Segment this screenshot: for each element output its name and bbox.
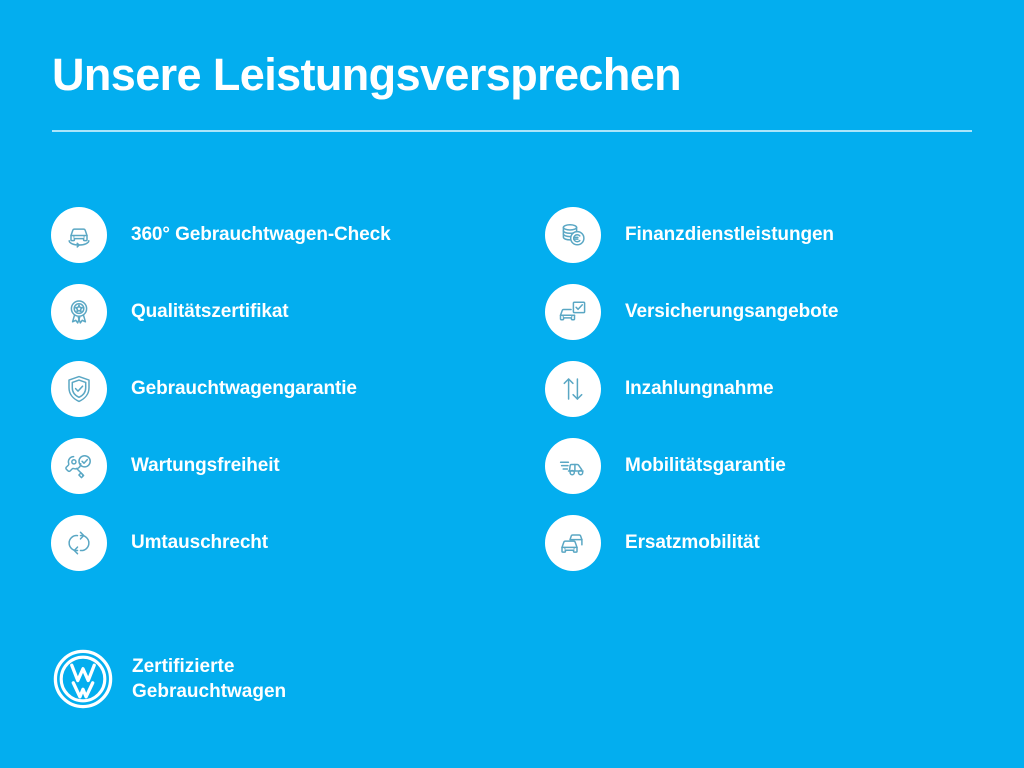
benefit-label: Qualitätszertifikat [131,301,289,323]
benefits-grid: 360° Gebrauchtwagen-Check Qualitätszerti… [0,196,1024,581]
shield-check-icon [51,361,107,417]
benefit-item-quality-certificate[interactable]: Qualitätszertifikat [51,273,524,350]
benefit-item-exchange-right[interactable]: Umtauschrecht [51,504,524,581]
two-cars-icon [545,515,601,571]
award-rosette-icon [51,284,107,340]
benefit-item-360-check[interactable]: 360° Gebrauchtwagen-Check [51,196,524,273]
benefit-label: Gebrauchtwagengarantie [131,378,357,400]
benefit-label: Ersatzmobilität [625,532,760,554]
benefit-item-maintenance-free[interactable]: Wartungsfreiheit [51,427,524,504]
footer-line-2: Gebrauchtwagen [132,679,286,704]
benefit-label: Umtauschrecht [131,532,268,554]
benefit-label: Versicherungsangebote [625,301,838,323]
slide-root: Unsere Leistungsversprechen [0,0,1024,768]
car-360-check-icon [51,207,107,263]
up-down-arrows-icon [545,361,601,417]
wrench-check-icon [51,438,107,494]
benefit-label: Wartungsfreiheit [131,455,280,477]
header-divider [52,130,972,132]
benefit-item-trade-in[interactable]: Inzahlungnahme [545,350,1024,427]
benefit-item-financial-services[interactable]: Finanzdienstleistungen [545,196,1024,273]
benefits-left-column: 360° Gebrauchtwagen-Check Qualitätszerti… [0,196,524,581]
benefit-label: Mobilitätsgarantie [625,455,786,477]
benefit-item-mobility-guarantee[interactable]: Mobilitätsgarantie [545,427,1024,504]
benefit-label: Finanzdienstleistungen [625,224,834,246]
benefits-right-column: Finanzdienstleistungen Versicheru [524,196,1024,581]
benefit-label: Inzahlungnahme [625,378,774,400]
header: Unsere Leistungsversprechen [52,48,972,132]
footer-text: Zertifizierte Gebrauchtwagen [132,654,286,704]
footer-line-1: Zertifizierte [132,654,286,679]
car-motion-icon [545,438,601,494]
exchange-arrows-icon [51,515,107,571]
benefit-item-insurance-offers[interactable]: Versicherungsangebote [545,273,1024,350]
benefit-item-warranty[interactable]: Gebrauchtwagengarantie [51,350,524,427]
volkswagen-logo-icon [52,648,114,710]
page-title: Unsere Leistungsversprechen [52,48,972,102]
footer-brand: Zertifizierte Gebrauchtwagen [52,648,286,710]
car-document-check-icon [545,284,601,340]
coins-euro-icon [545,207,601,263]
benefit-label: 360° Gebrauchtwagen-Check [131,224,391,246]
benefit-item-replacement-mobility[interactable]: Ersatzmobilität [545,504,1024,581]
